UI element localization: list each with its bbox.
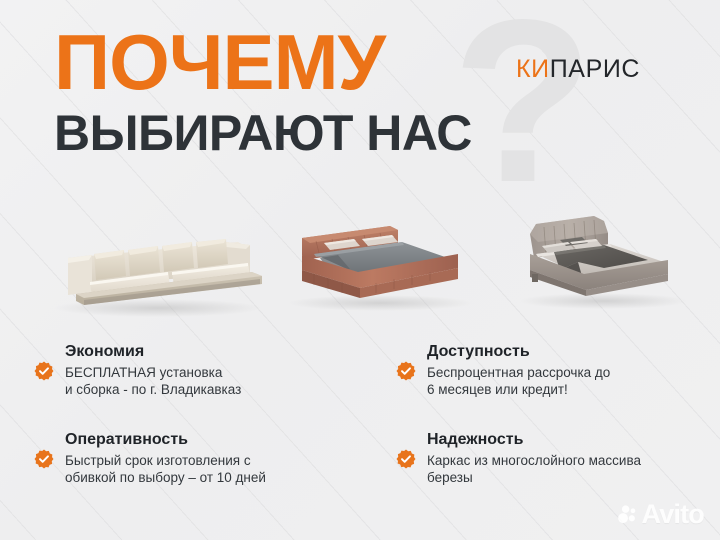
feature-description-line: БЕСПЛАТНАЯ установка (65, 365, 222, 380)
furniture-item-grey-bed (508, 196, 698, 316)
feature-description-line: Каркас из многослойного массива (427, 453, 641, 468)
furniture-item-terracotta-bed (280, 202, 480, 317)
furniture-item-beige-sofa (40, 212, 270, 322)
page-title: ПОЧЕМУ ВЫБИРАЮТ НАС (54, 22, 472, 161)
feature-title: Надежность (427, 430, 706, 450)
avito-wordmark: Avito (642, 501, 705, 528)
feature-text: Экономия БЕСПЛАТНАЯ установка и сборка -… (65, 342, 364, 398)
check-badge-icon (34, 449, 54, 469)
feature-description-line: березы (427, 470, 473, 485)
feature-description-line: Беспроцентная рассрочка до (427, 365, 610, 380)
feature-description-line: и сборка - по г. Владикавказ (65, 382, 241, 397)
avito-watermark: Avito (617, 501, 705, 528)
terracotta-bed-illustration (280, 202, 480, 312)
check-badge-icon (396, 449, 416, 469)
check-badge-icon (34, 361, 54, 381)
promo-poster: ? ПОЧЕМУ ВЫБИРАЮТ НАС КИПАРИС (0, 0, 720, 540)
feature-text: Надежность Каркас из многослойного масси… (427, 430, 706, 486)
feature-title: Доступность (427, 342, 706, 362)
feature-description: Каркас из многослойного массива березы (427, 452, 706, 486)
feature-description: Быстрый срок изготовления с обивкой по в… (65, 452, 364, 486)
feature-title: Экономия (65, 342, 364, 362)
brand-logo-suffix: ПАРИС (550, 55, 640, 83)
feature-title: Оперативность (65, 430, 364, 450)
feature-text: Оперативность Быстрый срок изготовления … (65, 430, 364, 486)
feature-description-line: обивкой по выбору – от 10 дней (65, 470, 266, 485)
feature-text: Доступность Беспроцентная рассрочка до 6… (427, 342, 706, 398)
headline-line-primary: ПОЧЕМУ (54, 22, 472, 102)
furniture-showcase (0, 178, 720, 326)
brand-logo-prefix: КИ (516, 55, 550, 83)
feature-item-affordability: Доступность Беспроцентная рассрочка до 6… (396, 342, 706, 398)
feature-item-speed: Оперативность Быстрый срок изготовления … (34, 430, 364, 486)
check-badge-icon (396, 361, 416, 381)
feature-item-reliability: Надежность Каркас из многослойного масси… (396, 430, 706, 486)
feature-description-line: Быстрый срок изготовления с (65, 453, 251, 468)
feature-item-economy: Экономия БЕСПЛАТНАЯ установка и сборка -… (34, 342, 364, 398)
avito-logo-icon (617, 504, 639, 526)
feature-description: БЕСПЛАТНАЯ установка и сборка - по г. Вл… (65, 364, 364, 398)
feature-description: Беспроцентная рассрочка до 6 месяцев или… (427, 364, 706, 398)
beige-sofa-illustration (40, 212, 270, 317)
headline-line-secondary: ВЫБИРАЮТ НАС (54, 105, 472, 161)
brand-logo: КИПАРИС (516, 55, 640, 83)
feature-description-line: 6 месяцев или кредит! (427, 382, 568, 397)
grey-bed-illustration (508, 196, 698, 311)
